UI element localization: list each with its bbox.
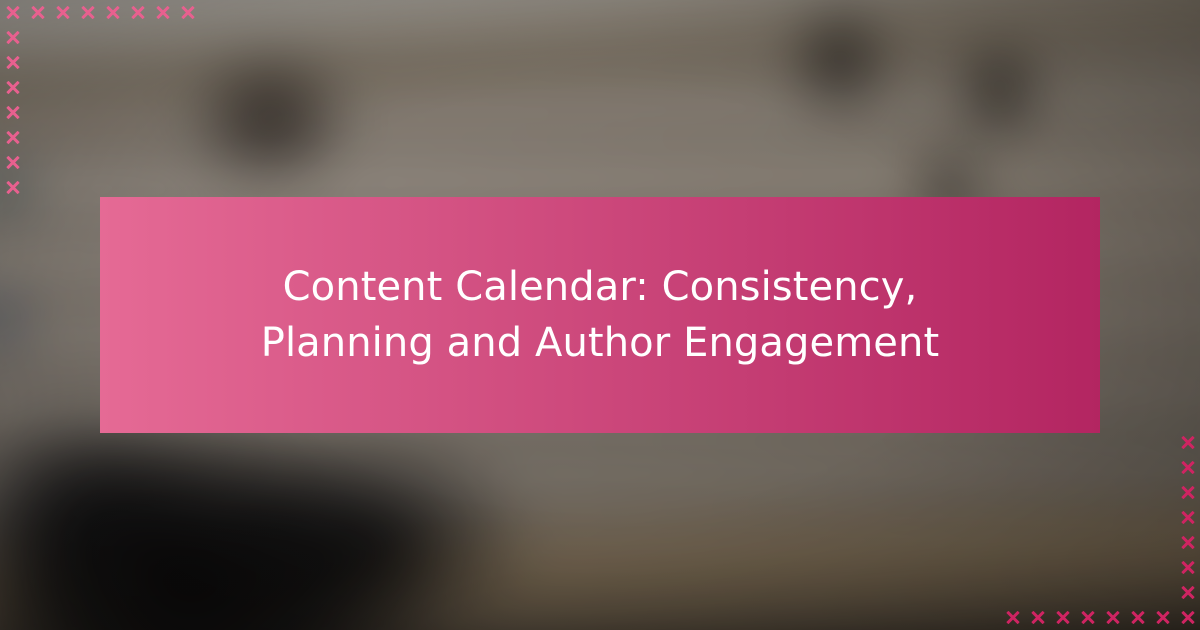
page-title: Content Calendar: Consistency, Planning … <box>210 259 990 371</box>
title-banner: Content Calendar: Consistency, Planning … <box>100 197 1100 433</box>
social-share-card: Content Calendar: Consistency, Planning … <box>0 0 1200 630</box>
